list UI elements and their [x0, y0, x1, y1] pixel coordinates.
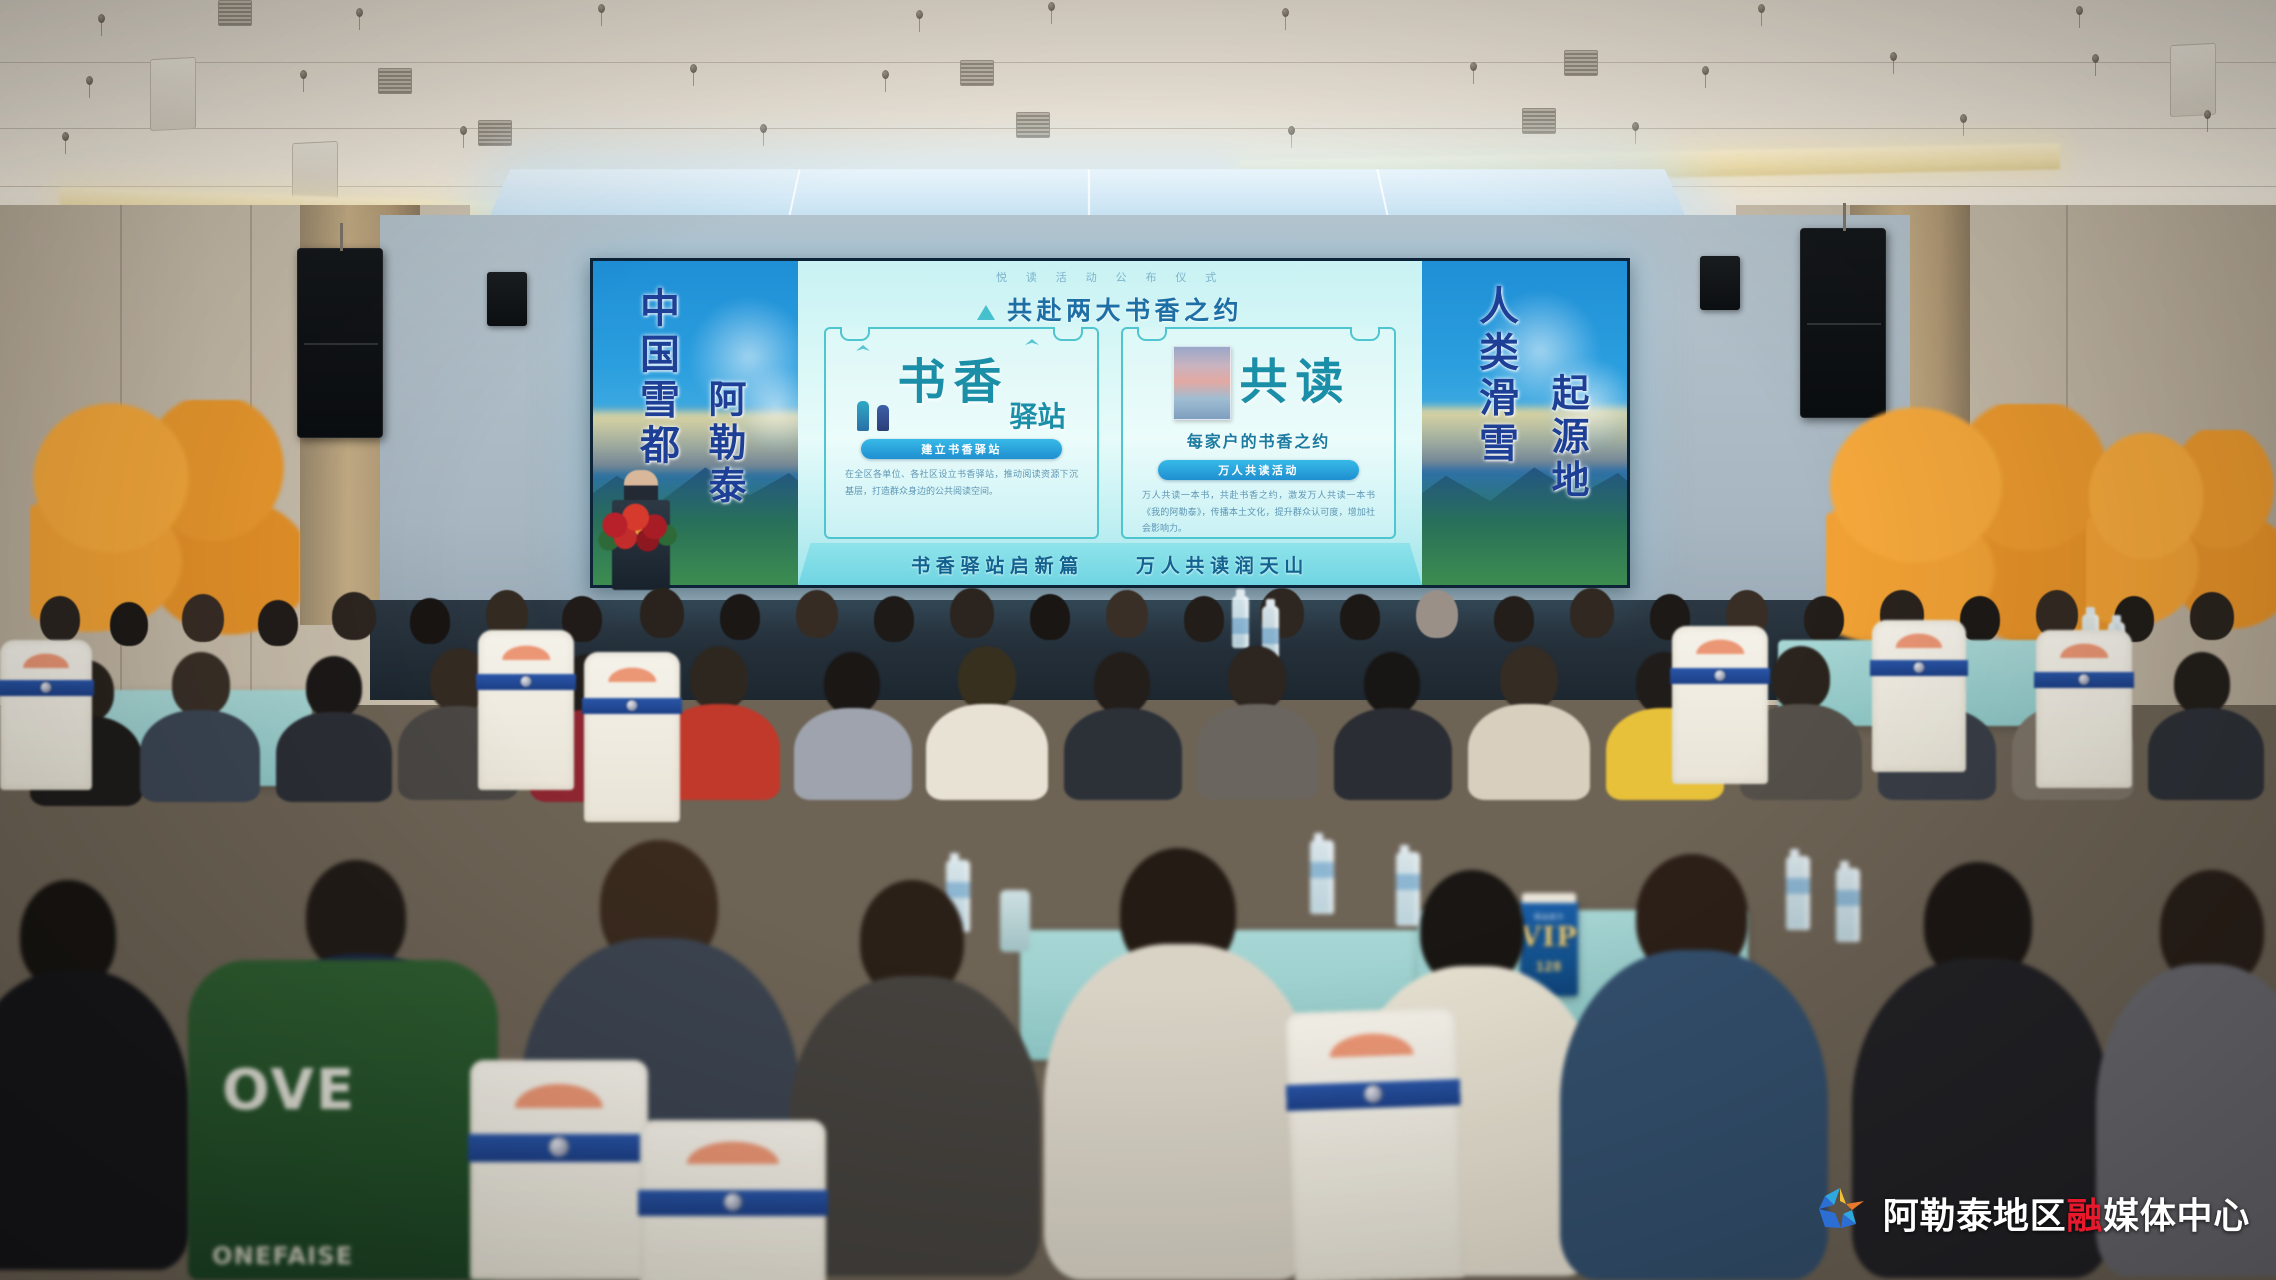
- star-logo-icon: [1811, 1184, 1869, 1242]
- slide-eyebrow: 悦 读 活 动 公 布 仪 式: [798, 269, 1422, 285]
- card-1-char-1: 书: [897, 360, 945, 406]
- ceiling-vent-icon: [478, 120, 512, 146]
- led-left-line2: 阿勒泰: [697, 379, 752, 509]
- audience-head: [306, 656, 362, 718]
- ceiling-panel: [150, 57, 196, 131]
- card-1-button: 建立书香驿站: [861, 439, 1062, 459]
- audience-body: [790, 976, 1040, 1276]
- card-1-body: 在全区各单位、各社区设立书香驿站，推动阅读资源下沉基层，打造群众身边的公共阅读空…: [845, 466, 1078, 499]
- banquet-chair: [1285, 1007, 1464, 1280]
- ceiling-vent-icon: [378, 68, 412, 94]
- card-2-char-2: 读: [1296, 360, 1344, 406]
- ceiling-vent-icon: [960, 60, 994, 86]
- card-1-char-3: 驿站: [1010, 404, 1066, 431]
- card-1-artwork: 书 香 驿站: [826, 335, 1097, 431]
- watermark-text: 阿勒泰地区融媒体中心: [1883, 1187, 2250, 1239]
- led-right-line2: 起源地: [1540, 373, 1595, 503]
- audience-head: [1094, 652, 1150, 714]
- ceiling-vent-icon: [218, 0, 252, 26]
- audience-head: [824, 652, 880, 714]
- ceiling-vent-icon: [1564, 50, 1598, 76]
- card-1-char-2: 香: [953, 360, 1001, 406]
- watermark-text-accent: 融: [2066, 1187, 2103, 1239]
- slide-card-2: 共 读 每家户的书香之约 万人共读活动 万人共读一本书，共赴书香之约，激发万人共…: [1121, 327, 1396, 539]
- card-2-button: 万人共读活动: [1158, 460, 1359, 480]
- audience-head: [958, 646, 1016, 710]
- bird-icon: [856, 345, 870, 355]
- slide-card-1: 书 香 驿站 建立书香驿站 在全区各单位、各社区设立书香驿站，推动阅读资源下沉基…: [824, 327, 1099, 539]
- conference-hall-scene: 中国雪都 阿勒泰 悦 读 活 动 公 布 仪 式 共赴两大书香之约 书: [0, 0, 2276, 1280]
- audience-head: [2174, 652, 2230, 714]
- banquet-chair: [470, 1060, 648, 1280]
- green-jacket-person: OVE ONEFAISE: [188, 960, 498, 1280]
- green-jacket-text-bottom: ONEFAISE: [212, 1242, 353, 1270]
- green-jacket-text-main: OVE: [222, 1058, 356, 1123]
- card-2-subtitle: 每家户的书香之约: [1187, 428, 1330, 452]
- line-array-speaker-left: [297, 248, 383, 438]
- line-array-speaker-right: [1800, 228, 1886, 418]
- book-cover-icon: [1173, 346, 1231, 420]
- figure-icon: [877, 405, 889, 431]
- slide-headline: 共赴两大书香之约: [798, 291, 1422, 327]
- speaker-small-left: [487, 272, 527, 326]
- slide-cards: 书 香 驿站 建立书香驿站 在全区各单位、各社区设立书香驿站，推动阅读资源下沉基…: [824, 327, 1396, 539]
- ceiling-vent-icon: [1522, 108, 1556, 134]
- audience-body: [1560, 950, 1828, 1280]
- led-panel-right: 人类滑雪 起源地: [1422, 261, 1627, 585]
- card-2-artwork: 共 读: [1123, 335, 1394, 430]
- audience-head: [690, 646, 748, 710]
- broadcaster-watermark: 阿勒泰地区融媒体中心: [1811, 1184, 2250, 1242]
- led-left-line1: 中国雪都: [627, 287, 685, 469]
- figure-icon: [857, 401, 869, 431]
- audience-body: [0, 970, 190, 1270]
- led-right-line1: 人类滑雪: [1466, 285, 1524, 467]
- flower-arrangement: [596, 498, 682, 558]
- card-2-body: 万人共读一本书，共赴书香之约，激发万人共读一本书《我的阿勒泰》，传播本土文化，提…: [1142, 487, 1375, 537]
- watermark-text-after: 媒体中心: [2103, 1187, 2250, 1239]
- audience-head: [172, 652, 230, 716]
- slide-headline-text: 共赴两大书香之约: [1007, 296, 1243, 325]
- speaker-small-right: [1700, 256, 1740, 310]
- audience-head: [1228, 646, 1286, 710]
- banquet-chair: [640, 1120, 826, 1280]
- led-video-wall: 中国雪都 阿勒泰 悦 读 活 动 公 布 仪 式 共赴两大书香之约 书: [590, 258, 1630, 588]
- triangle-marker-icon: [977, 305, 995, 320]
- ceiling-vent-icon: [1016, 112, 1050, 138]
- bird-icon: [1025, 339, 1039, 349]
- audience-head: [1500, 646, 1558, 710]
- watermark-text-before: 阿勒泰地区: [1883, 1187, 2067, 1239]
- audience-head: [1364, 652, 1420, 714]
- audience-body: [1044, 944, 1316, 1280]
- audience-head: [1772, 646, 1830, 710]
- card-2-char-1: 共: [1239, 360, 1287, 406]
- ceiling-panel: [2170, 43, 2216, 117]
- led-slide: 悦 读 活 动 公 布 仪 式 共赴两大书香之约 书 香 驿站: [798, 261, 1422, 585]
